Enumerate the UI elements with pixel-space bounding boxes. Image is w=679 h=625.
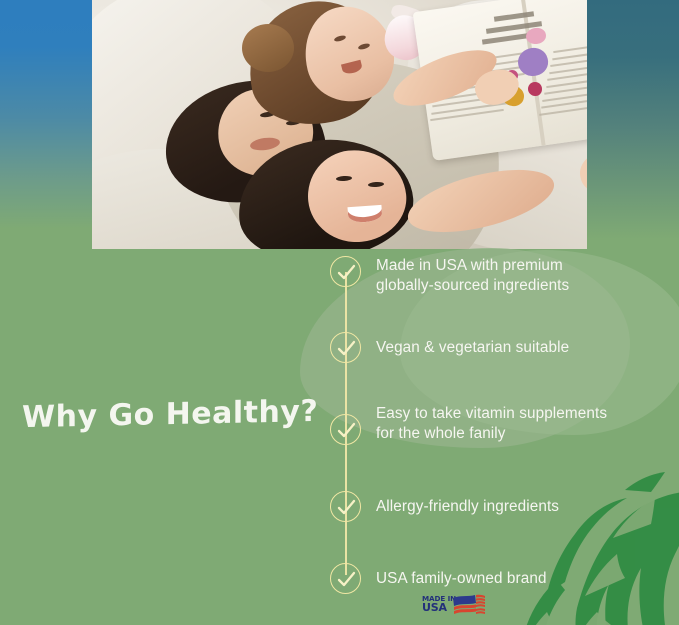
list-item-line1: Made in USA with premium: [376, 257, 563, 274]
page-title: Why Go Healthy?: [22, 395, 322, 434]
list-item-label: Made in USA with premium globally-source…: [376, 256, 569, 296]
us-flag-icon: [452, 594, 486, 615]
badge-line-2: USA: [422, 603, 447, 613]
right-gradient-band: [587, 0, 679, 260]
promo-banner: Why Go Healthy? Made in USA with premium…: [0, 0, 679, 625]
check-circle-icon: [330, 414, 361, 445]
list-item: USA family-owned brand: [330, 554, 670, 604]
check-circle-icon: [330, 332, 361, 363]
list-item: Made in USA with premium globally-source…: [330, 250, 670, 326]
list-item: Allergy-friendly ingredients: [330, 479, 670, 554]
check-circle-icon: [330, 563, 361, 594]
made-in-usa-badge: MADE IN USA: [422, 593, 484, 617]
list-item: Easy to take vitamin supplements for the…: [330, 398, 670, 479]
list-item-label: Easy to take vitamin supplements for the…: [376, 404, 607, 444]
family-photo: [90, 0, 587, 249]
feature-list: Made in USA with premium globally-source…: [330, 250, 670, 604]
left-gradient-band: [0, 0, 92, 260]
pressed-flower-red: [528, 82, 542, 96]
list-item-line2: for the whole fanily: [376, 425, 506, 442]
list-item-line1: Easy to take vitamin supplements: [376, 405, 607, 422]
daughter-hair-bun: [242, 24, 294, 72]
check-circle-icon: [330, 256, 361, 287]
list-item-label: USA family-owned brand: [376, 569, 547, 589]
list-item-label: Vegan & vegetarian suitable: [376, 338, 569, 358]
list-item: Vegan & vegetarian suitable: [330, 326, 670, 398]
list-item-label: Allergy-friendly ingredients: [376, 497, 559, 517]
list-item-line2: globally-sourced ingredients: [376, 277, 569, 294]
check-circle-icon: [330, 491, 361, 522]
